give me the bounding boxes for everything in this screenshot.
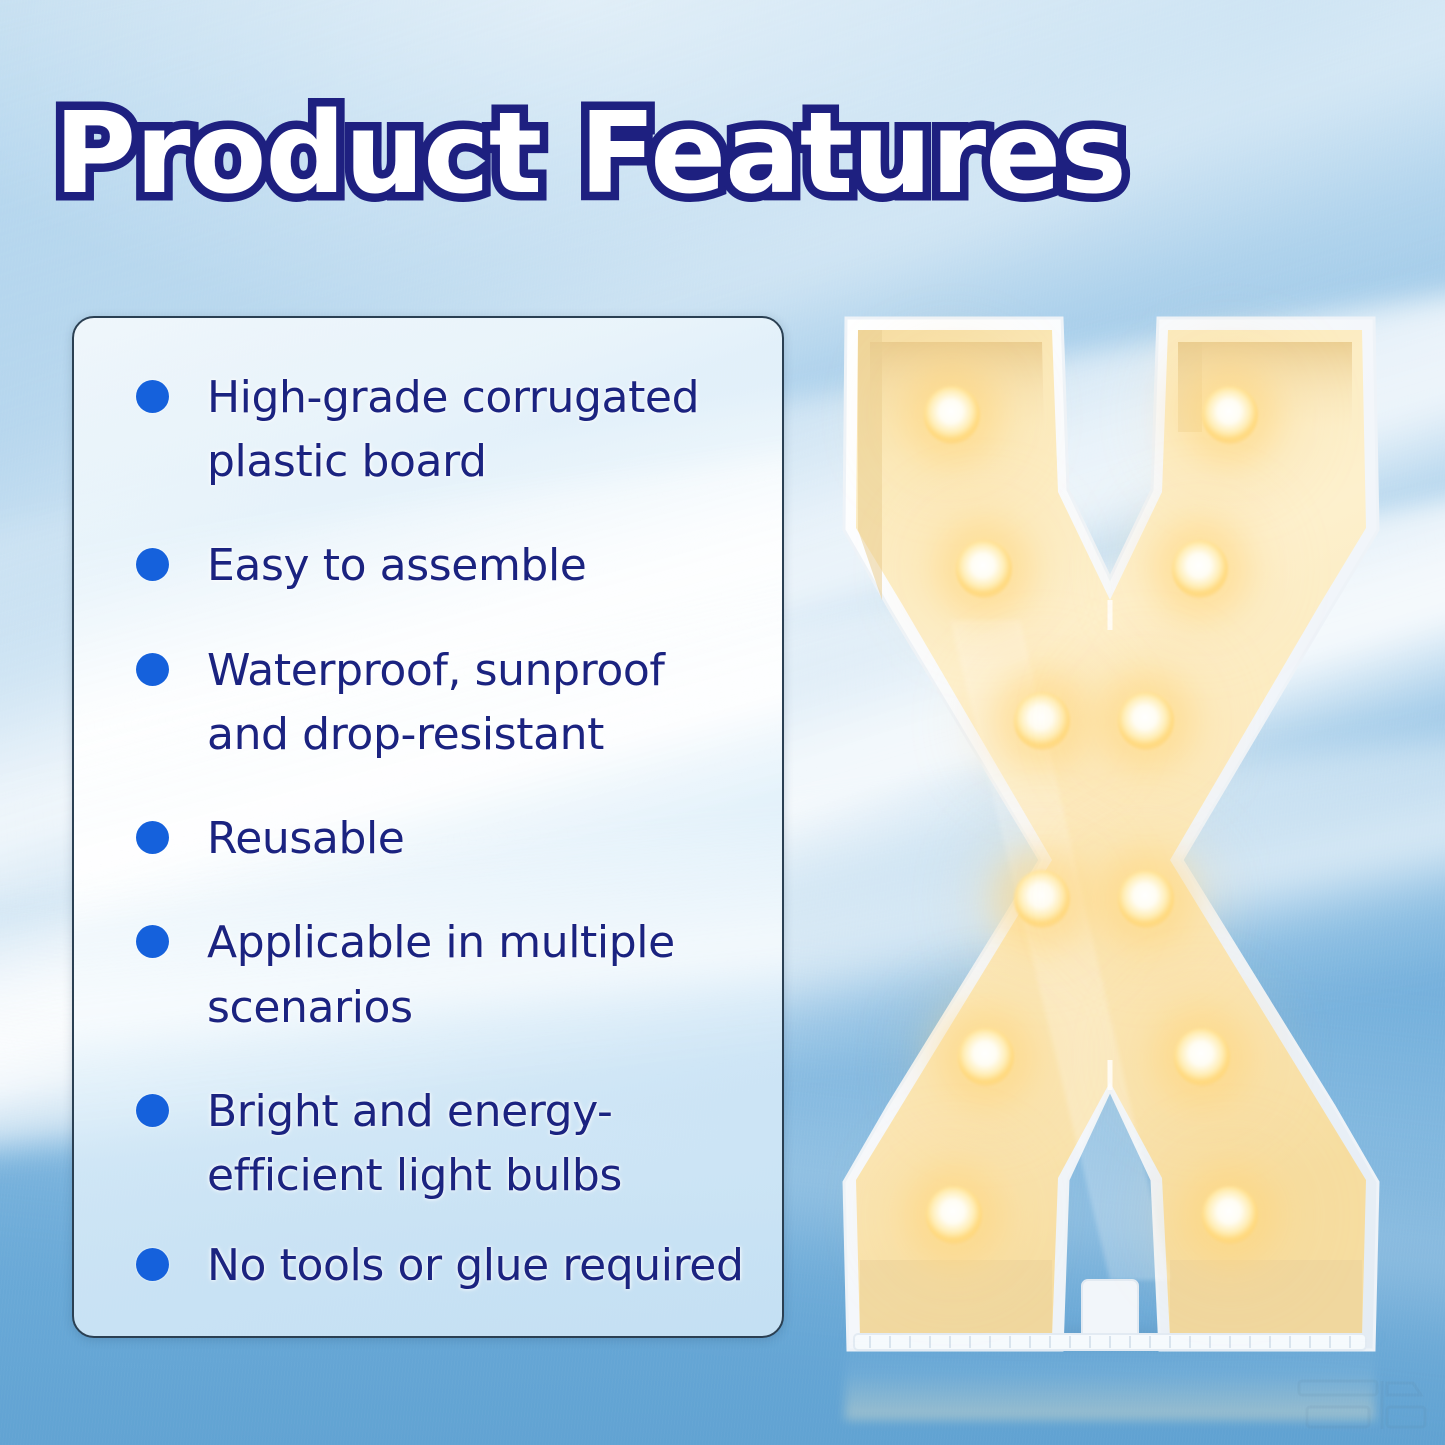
- letter-x-shape: [830, 300, 1390, 1370]
- bullet-icon: [136, 821, 169, 854]
- list-item-label: No tools or glue required: [207, 1234, 744, 1298]
- list-item-label: High-grade corrugated plastic board: [207, 366, 756, 494]
- features-list: High-grade corrugated plastic board Easy…: [74, 318, 782, 1336]
- list-item: Applicable in multiple scenarios: [108, 911, 756, 1039]
- list-item: High-grade corrugated plastic board: [108, 366, 756, 494]
- site-watermark-icon: [1287, 1363, 1437, 1441]
- letter-x-face: [856, 330, 1366, 1338]
- list-item: Waterproof, sunproof and drop-resistant: [108, 639, 756, 767]
- letter-x-base-tab: [1082, 1280, 1138, 1342]
- list-item-label: Reusable: [207, 807, 404, 871]
- page-title: Product Features: [0, 96, 1180, 214]
- list-item-label: Easy to assemble: [207, 534, 586, 598]
- bullet-icon: [136, 1248, 169, 1281]
- list-item-label: Bright and energy-efficient light bulbs: [207, 1080, 756, 1208]
- bullet-icon: [136, 653, 169, 686]
- list-item-label: Applicable in multiple scenarios: [207, 911, 756, 1039]
- product-feature-graphic: Product Features High-grade corrugated p…: [0, 0, 1445, 1445]
- features-card: High-grade corrugated plastic board Easy…: [72, 316, 784, 1338]
- list-item: Bright and energy-efficient light bulbs: [108, 1080, 756, 1208]
- product-marquee-letter-x: [830, 300, 1390, 1370]
- bullet-icon: [136, 548, 169, 581]
- bullet-icon: [136, 925, 169, 958]
- bullet-icon: [136, 380, 169, 413]
- list-item-label: Waterproof, sunproof and drop-resistant: [207, 639, 756, 767]
- list-item: Easy to assemble: [108, 534, 756, 598]
- list-item: No tools or glue required: [108, 1234, 756, 1298]
- list-item: Reusable: [108, 807, 756, 871]
- bullet-icon: [136, 1094, 169, 1127]
